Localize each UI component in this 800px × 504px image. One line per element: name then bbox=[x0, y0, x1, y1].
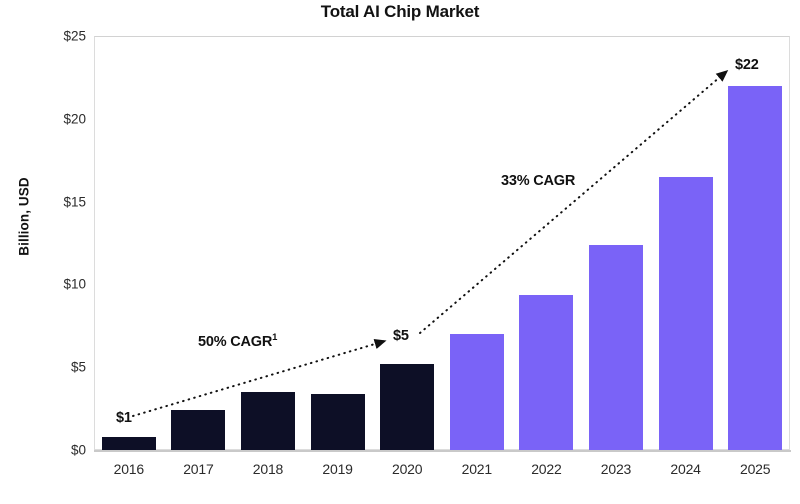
y-axis-tick-label: $15 bbox=[2, 194, 86, 209]
value-label-2016: $1 bbox=[116, 410, 132, 426]
x-axis-tick-label-2017: 2017 bbox=[164, 461, 234, 477]
y-axis-tick-label: $5 bbox=[2, 360, 86, 375]
y-axis-tick-label: $25 bbox=[2, 29, 86, 44]
bar-2019[interactable] bbox=[311, 394, 365, 450]
value-label-2025: $22 bbox=[735, 57, 759, 73]
y-axis-tick-label: $0 bbox=[2, 443, 86, 458]
bar-2016[interactable] bbox=[102, 437, 156, 450]
x-axis-tick-label-2018: 2018 bbox=[233, 461, 303, 477]
cagr-callout-2-text: 33% CAGR bbox=[501, 173, 575, 189]
bar-2024[interactable] bbox=[659, 177, 713, 450]
chart-canvas: Total AI Chip Market Billion, USD $0$5$1… bbox=[0, 0, 800, 504]
bar-2017[interactable] bbox=[171, 410, 225, 450]
x-axis-tick-label-2023: 2023 bbox=[581, 461, 651, 477]
cagr-callout-1-text: 50% CAGR bbox=[198, 334, 272, 350]
x-axis-tick-label-2019: 2019 bbox=[303, 461, 373, 477]
cagr-callout-1: 50% CAGR1 bbox=[198, 334, 277, 350]
cagr-callout-2: 33% CAGR bbox=[501, 173, 575, 189]
bar-2022[interactable] bbox=[519, 295, 573, 450]
x-axis-tick-label-2016: 2016 bbox=[94, 461, 164, 477]
bar-2020[interactable] bbox=[380, 364, 434, 450]
x-axis-tick-label-2025: 2025 bbox=[720, 461, 790, 477]
chart-title: Total AI Chip Market bbox=[0, 2, 800, 22]
x-axis-tick-label-2024: 2024 bbox=[651, 461, 721, 477]
x-axis-line bbox=[94, 450, 791, 452]
y-axis-tick-label: $20 bbox=[2, 111, 86, 126]
x-axis-tick-label-2022: 2022 bbox=[512, 461, 582, 477]
bar-2021[interactable] bbox=[450, 334, 504, 450]
bar-2018[interactable] bbox=[241, 392, 295, 450]
bar-2023[interactable] bbox=[589, 245, 643, 450]
y-axis-tick-label: $10 bbox=[2, 277, 86, 292]
x-axis-tick-label-2020: 2020 bbox=[372, 461, 442, 477]
x-axis-tick-label-2021: 2021 bbox=[442, 461, 512, 477]
bar-series bbox=[94, 36, 790, 450]
cagr-callout-1-footnote: 1 bbox=[272, 332, 277, 343]
bar-2025[interactable] bbox=[728, 86, 782, 450]
value-label-2020: $5 bbox=[393, 328, 409, 344]
y-axis-tick-group: $0$5$10$15$20$25 bbox=[0, 0, 86, 504]
